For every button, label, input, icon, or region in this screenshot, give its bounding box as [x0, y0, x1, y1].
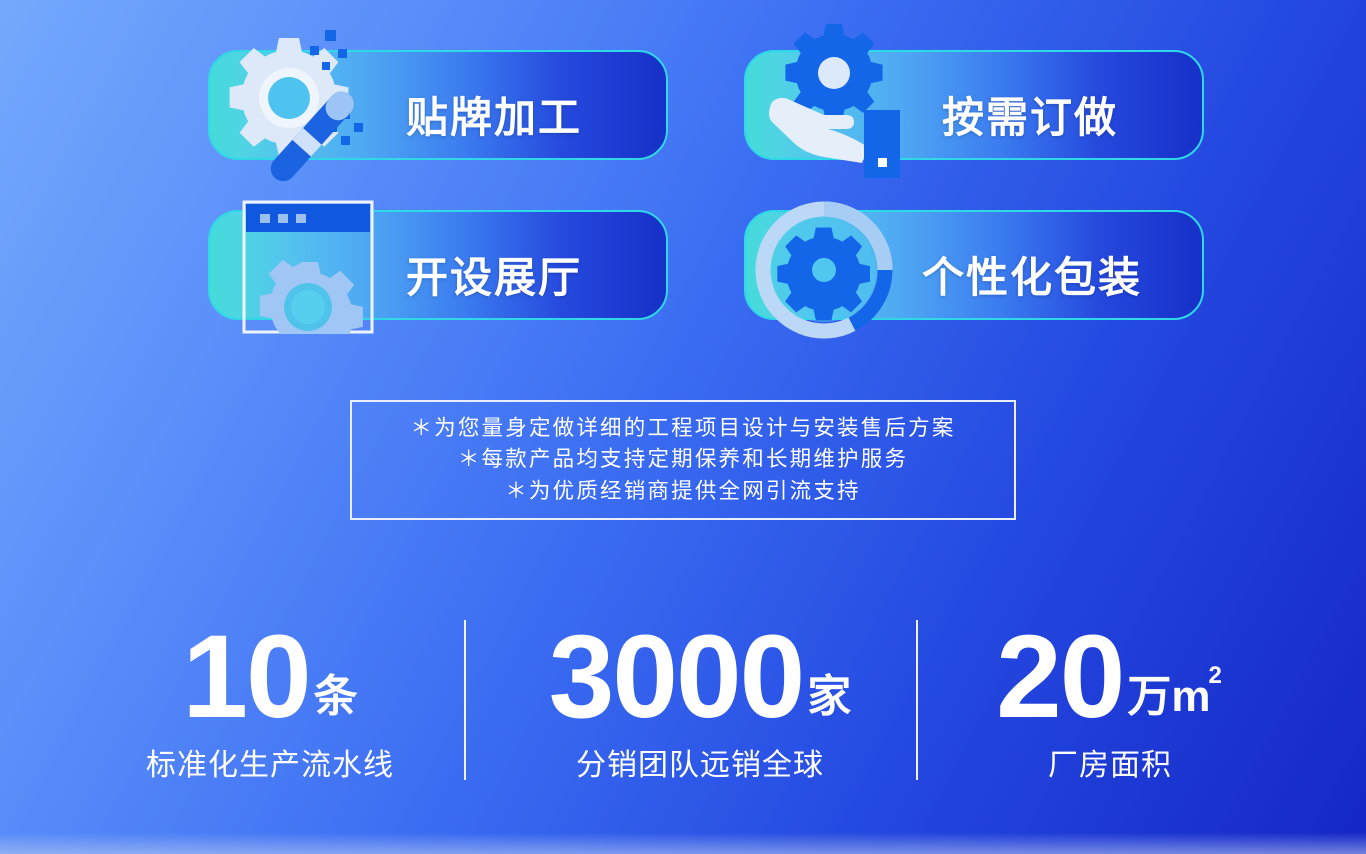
stat-unit: 家 — [807, 675, 851, 719]
stat-number: 3000 — [549, 618, 804, 736]
stat-unit: 条 — [314, 675, 358, 719]
stat-factory-area: 20 万m2 厂房面积 — [955, 618, 1265, 784]
stat-unit: 万m2 — [1127, 675, 1223, 719]
stat-number: 10 — [182, 618, 309, 736]
feature-card-label: 开设展厅 — [406, 244, 582, 305]
gear-hand-icon — [752, 18, 927, 193]
feature-card-oem-processing[interactable]: 贴牌加工 — [208, 50, 668, 160]
stat-caption: 标准化生产流水线 — [100, 740, 440, 784]
feature-card-custom-packaging[interactable]: 个性化包装 — [744, 210, 1204, 320]
gear-magic-wand-icon — [204, 24, 374, 194]
service-note-line: ＊为您量身定做详细的工程项目设计与安装售后方案 — [410, 414, 955, 443]
service-note-line: ＊每款产品均支持定期保养和长期维护服务 — [458, 445, 908, 474]
stat-caption: 分销团队远销全球 — [505, 740, 895, 784]
stat-unit-superscript: 2 — [1209, 662, 1222, 689]
gear-donut-ring-icon — [748, 194, 900, 346]
stat-unit-text: 万m — [1127, 672, 1210, 721]
stat-distributors: 3000 家 分销团队远销全球 — [505, 618, 895, 784]
feature-card-label: 按需订做 — [942, 84, 1118, 145]
feature-card-label: 贴牌加工 — [406, 84, 582, 145]
browser-window-gear-icon — [242, 200, 374, 334]
feature-card-label: 个性化包装 — [922, 244, 1142, 305]
stat-number: 20 — [996, 618, 1123, 736]
stat-divider — [464, 620, 466, 780]
feature-card-showroom[interactable]: 开设展厅 — [208, 210, 668, 320]
stat-caption: 厂房面积 — [955, 740, 1265, 784]
feature-card-grid: 贴牌加工 按需订做 — [0, 0, 1366, 380]
stats-section: 10 条 标准化生产流水线 3000 家 分销团队远销全球 20 万m2 厂房面… — [0, 600, 1366, 800]
feature-card-made-to-order[interactable]: 按需订做 — [744, 50, 1204, 160]
service-notes-box: ＊为您量身定做详细的工程项目设计与安装售后方案 ＊每款产品均支持定期保养和长期维… — [350, 400, 1016, 520]
stat-divider — [916, 620, 918, 780]
stat-production-lines: 10 条 标准化生产流水线 — [100, 618, 440, 784]
service-note-line: ＊为优质经销商提供全网引流支持 — [505, 477, 861, 506]
